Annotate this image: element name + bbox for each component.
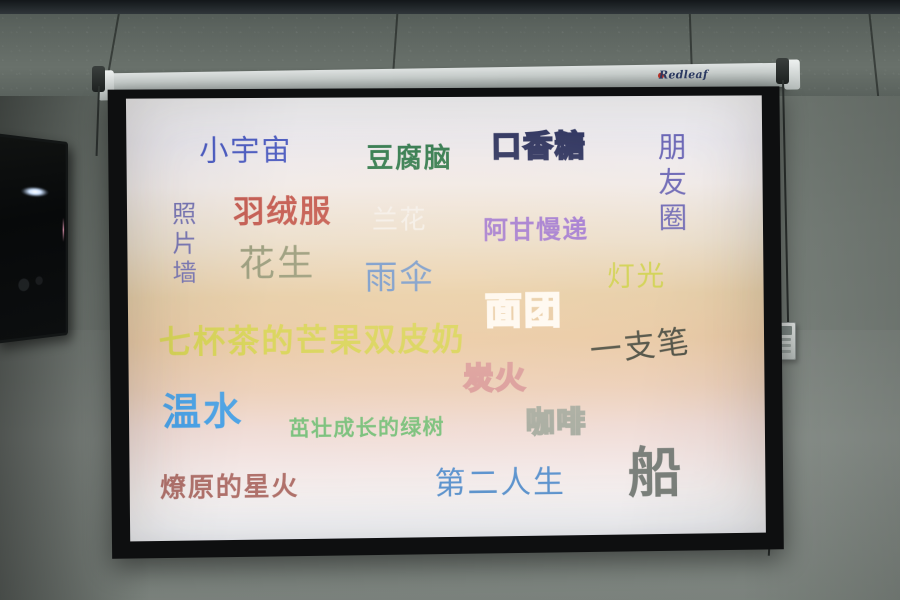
word-cloud-item: 羽绒服 <box>233 197 333 229</box>
word-cloud-item: 温水 <box>162 392 244 431</box>
word-cloud-item: 一支笔 <box>588 325 692 367</box>
screen-brand-label: Redleaf <box>659 68 708 82</box>
tv-screen-glare <box>21 186 49 198</box>
tv-edge-highlight <box>63 218 65 242</box>
projection-screen-surface[interactable]: 小宇宙豆腐脑口香糖朋友圈照片墙羽绒服兰花阿甘慢递花生雨伞灯光面团七杯茶的芒果双皮… <box>126 95 766 541</box>
word-cloud-item: 照片墙 <box>169 201 194 290</box>
word-cloud-item: 阿甘慢递 <box>483 217 589 243</box>
word-cloud-item: 灯光 <box>607 262 666 290</box>
word-cloud-item: 朋友圈 <box>655 132 685 238</box>
word-cloud-item: 豆腐脑 <box>366 145 452 173</box>
word-cloud-item: 燎原的星火 <box>160 474 299 502</box>
word-cloud-item: 炭火 <box>463 364 527 395</box>
wall-mounted-tv[interactable] <box>0 133 68 344</box>
word-cloud-item: 花生 <box>238 246 315 283</box>
room-photo-scene: Redleaf 小宇宙豆腐脑口香糖朋友圈照片墙羽绒服兰花阿甘慢递花生雨伞灯光面团… <box>0 0 900 600</box>
word-cloud-item: 茁壮成长的绿树 <box>288 416 444 439</box>
word-cloud-item: 面团 <box>485 292 564 330</box>
word-cloud-item: 兰花 <box>372 207 427 233</box>
word-cloud-item: 雨伞 <box>364 260 434 294</box>
word-cloud-item: 口香糖 <box>491 132 586 163</box>
word-cloud-item: 小宇宙 <box>199 136 292 166</box>
projection-screen-frame: 小宇宙豆腐脑口香糖朋友圈照片墙羽绒服兰花阿甘慢递花生雨伞灯光面团七杯茶的芒果双皮… <box>108 86 784 558</box>
word-cloud-item: 第二人生 <box>434 468 565 501</box>
tv-screen-reflection <box>9 247 57 316</box>
word-cloud-item: 船 <box>628 446 685 500</box>
word-cloud-item: 咖啡 <box>526 407 587 437</box>
ceiling-front-edge <box>0 0 900 14</box>
word-cloud-item: 七杯茶的芒果双皮奶 <box>158 323 465 358</box>
